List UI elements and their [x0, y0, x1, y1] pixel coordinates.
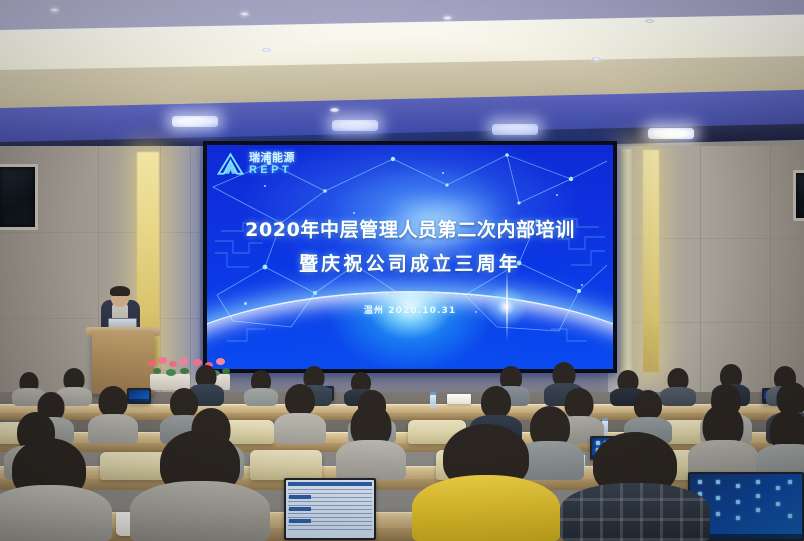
conference-hall-photo: 瑞浦能源 REPT 2020年中层管理人员第二次内部培训 暨庆祝公司成立三周年 …	[0, 0, 804, 541]
wall-panel-seam	[700, 146, 701, 396]
person-head	[285, 384, 315, 416]
audience-member-plaid-shirt	[560, 432, 710, 541]
person-torso	[130, 481, 270, 541]
wall-panel-seam	[0, 318, 200, 319]
led-video-wall: 瑞浦能源 REPT 2020年中层管理人员第二次内部培训 暨庆祝公司成立三周年 …	[203, 141, 617, 373]
wall-accent-light-right	[621, 149, 632, 375]
ceiling-spot-icon	[240, 12, 249, 16]
ceiling-spot-icon	[443, 16, 452, 20]
ceiling-spot-icon	[262, 48, 271, 52]
person-torso	[244, 388, 278, 406]
led-screen-content: 瑞浦能源 REPT 2020年中层管理人员第二次内部培训 暨庆祝公司成立三周年 …	[207, 145, 613, 369]
wall-monitor-right	[793, 170, 804, 221]
person-torso	[0, 485, 112, 541]
person-torso	[560, 483, 710, 541]
audience-member-yellow-shirt	[412, 424, 560, 541]
wall-panel-seam	[0, 232, 200, 233]
ceiling-spot-icon	[50, 8, 59, 12]
right-side-wall	[608, 146, 804, 396]
person-torso	[274, 413, 326, 444]
podium	[92, 332, 154, 394]
person-head	[481, 386, 511, 418]
flower-icon	[169, 361, 177, 367]
ceiling-panel-light	[492, 124, 538, 135]
person-head	[634, 390, 662, 420]
audience-member-front-left-2	[130, 430, 270, 541]
rept-mountain-icon	[217, 152, 244, 176]
screen-sparkle	[581, 284, 583, 286]
speaker-hair	[110, 286, 130, 296]
person-torso	[412, 475, 560, 541]
leaf-icon	[166, 369, 176, 376]
ceiling-spot-icon	[592, 57, 601, 61]
logo-text-block: 瑞浦能源 REPT	[249, 152, 295, 176]
person-head	[99, 386, 128, 417]
logo-english-name: REPT	[249, 165, 295, 176]
wall-accent-light-right-2	[643, 150, 659, 372]
person-torso	[336, 440, 406, 480]
audience-member	[336, 404, 406, 480]
desk-nameplate	[447, 394, 471, 404]
company-logo: 瑞浦能源 REPT	[217, 152, 295, 176]
audience-member	[756, 410, 804, 480]
flower-icon	[148, 360, 156, 366]
leaf-icon	[153, 368, 161, 374]
ceiling-panel-light	[172, 116, 218, 127]
flower-icon	[216, 358, 225, 365]
audience-member	[244, 370, 278, 406]
screen-title-line-2: 暨庆祝公司成立三周年	[207, 249, 613, 276]
screen-location-date: 温州 2020.10.31	[207, 303, 613, 316]
ceiling-panel-light	[648, 128, 694, 139]
ceiling-panel-light	[332, 120, 378, 131]
wall-monitor-left	[0, 164, 38, 230]
flower-icon	[179, 358, 188, 365]
audience-member-front-left	[0, 438, 112, 541]
wall-panel-seam	[770, 146, 771, 396]
water-bottle	[430, 392, 436, 409]
ceiling-spot-icon	[645, 19, 654, 23]
laptop-screen	[286, 480, 374, 538]
ceiling-spot-icon	[330, 108, 339, 112]
flower-icon	[158, 357, 167, 364]
logo-chinese-name: 瑞浦能源	[249, 152, 295, 163]
screen-title-line-1: 2020年中层管理人员第二次内部培训	[207, 215, 613, 242]
laptop-spreadsheet	[284, 478, 376, 540]
audience-member	[274, 384, 326, 444]
